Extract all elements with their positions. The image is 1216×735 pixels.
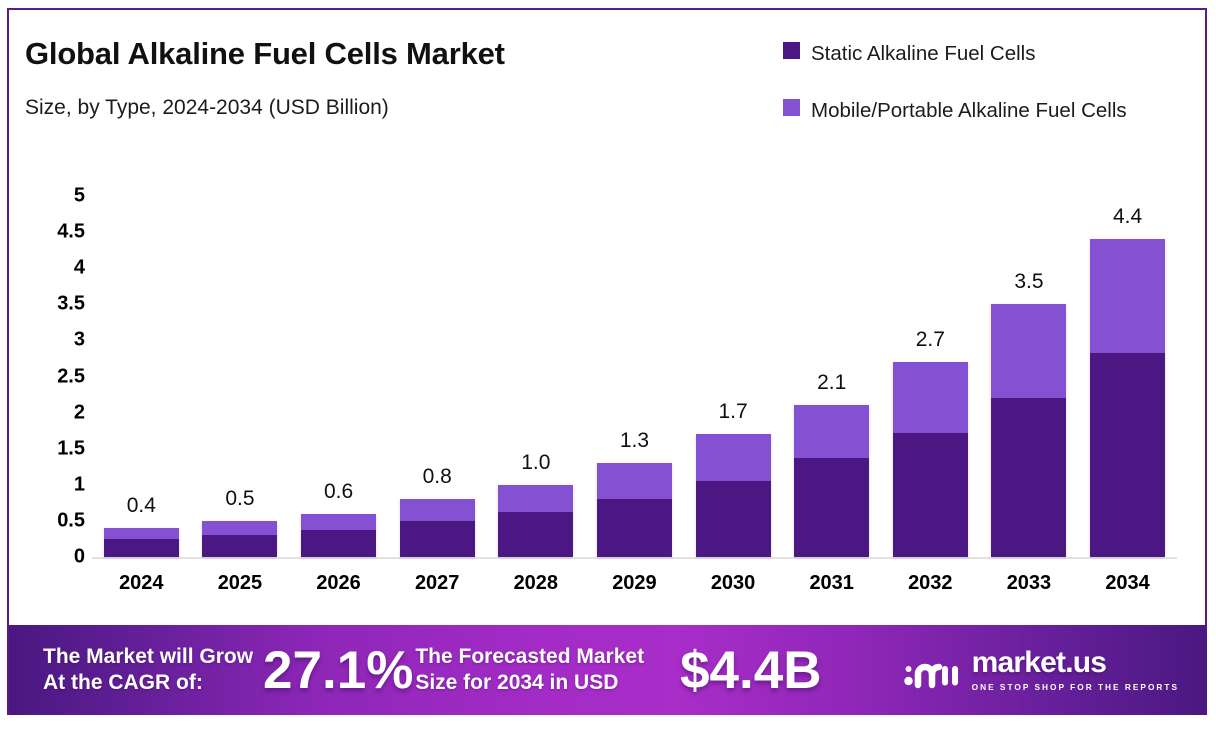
bar-segment-mobile-portable[interactable] [893,362,968,433]
bar-segment-static[interactable] [1090,353,1165,557]
bar-total-label: 0.6 [324,480,353,504]
bar-total-label: 2.1 [817,371,846,395]
bar-segment-static[interactable] [498,512,573,557]
bar-total-label: 3.5 [1014,270,1043,294]
bar-group: 0.8 [388,196,486,557]
bar-stack[interactable] [498,485,573,557]
x-axis-tick: 2030 [684,572,782,604]
summary-banner: The Market will Grow At the CAGR of: 27.… [9,625,1207,715]
square-swatch-icon [783,99,800,116]
bar-group: 4.4 [1079,196,1177,557]
y-axis-tick: 1.5 [57,437,85,460]
legend-item-mobile-portable[interactable]: Mobile/Portable Alkaline Fuel Cells [783,95,1183,126]
y-axis-tick: 2.5 [57,365,85,388]
bar-segment-static[interactable] [202,535,277,557]
y-axis-tick: 3.5 [57,293,85,316]
bar-stack[interactable] [400,499,475,557]
bar-segment-mobile-portable[interactable] [794,405,869,458]
brand-logo[interactable]: market.us ONE STOP SHOP FOR THE REPORTS [903,648,1179,692]
page-title: Global Alkaline Fuel Cells Market [25,36,505,72]
x-axis-tick: 2029 [585,572,683,604]
bar-segment-static[interactable] [400,521,475,557]
x-axis-tick: 2032 [881,572,979,604]
bar-total-label: 2.7 [916,328,945,352]
x-axis-tick: 2025 [191,572,289,604]
y-axis-tick: 0.5 [57,509,85,532]
x-axis-tick: 2024 [92,572,190,604]
bar-segment-mobile-portable[interactable] [1090,239,1165,353]
bar-segment-mobile-portable[interactable] [400,499,475,521]
bar-group: 0.4 [92,196,190,557]
y-axis-tick: 2 [74,401,85,424]
bar-stack[interactable] [597,463,672,557]
cagr-label-line2: At the CAGR of: [43,670,253,696]
x-axis-tick: 2026 [290,572,388,604]
bar-total-label: 1.7 [718,400,747,424]
bar-stack[interactable] [104,528,179,557]
y-axis-tick: 4 [74,257,85,280]
bar-group: 0.5 [191,196,289,557]
bar-segment-mobile-portable[interactable] [991,304,1066,398]
bar-segment-static[interactable] [104,539,179,557]
forecast-label-block: The Forecasted Market Size for 2034 in U… [415,644,644,696]
bar-stack[interactable] [301,514,376,557]
bar-stack[interactable] [794,405,869,557]
bar-stack[interactable] [696,434,771,557]
bar-segment-mobile-portable[interactable] [301,514,376,530]
cagr-label-line1: The Market will Grow [43,644,253,670]
y-axis-tick: 3 [74,329,85,352]
chart-legend: Static Alkaline Fuel Cells Mobile/Portab… [783,38,1183,152]
bar-segment-static[interactable] [696,481,771,557]
bar-stack[interactable] [202,521,277,557]
y-axis-tick: 5 [74,185,85,208]
bars-container: 0.40.50.60.81.01.31.72.12.73.54.4 [92,196,1177,557]
x-axis-tick: 2031 [783,572,881,604]
x-axis-tick: 2027 [388,572,486,604]
infographic-canvas: Global Alkaline Fuel Cells Market Size, … [0,0,1216,735]
bar-total-label: 0.4 [127,494,156,518]
bar-stack[interactable] [1090,239,1165,557]
square-swatch-icon [783,42,800,59]
bar-total-label: 4.4 [1113,205,1142,229]
forecast-label-line2: Size for 2034 in USD [415,670,644,696]
bar-group: 2.7 [881,196,979,557]
x-axis-baseline [92,557,1177,559]
y-axis-tick: 4.5 [57,221,85,244]
cagr-value: 27.1% [263,644,413,697]
bar-group: 0.6 [290,196,388,557]
forecast-value: $4.4B [680,644,821,697]
y-axis-tick: 1 [74,473,85,496]
market-us-logo-icon [903,651,961,689]
x-axis-tick: 2033 [980,572,1078,604]
page-subtitle: Size, by Type, 2024-2034 (USD Billion) [25,96,389,120]
y-axis-tick: 0 [74,546,85,569]
bar-segment-mobile-portable[interactable] [202,521,277,535]
legend-item-label: Mobile/Portable Alkaline Fuel Cells [811,95,1127,126]
bar-segment-mobile-portable[interactable] [696,434,771,481]
cagr-label-block: The Market will Grow At the CAGR of: [43,644,253,696]
bar-segment-static[interactable] [991,398,1066,557]
bar-segment-mobile-portable[interactable] [597,463,672,499]
legend-item-label: Static Alkaline Fuel Cells [811,38,1035,69]
legend-item-static[interactable]: Static Alkaline Fuel Cells [783,38,1183,69]
bar-group: 3.5 [980,196,1078,557]
forecast-label-line1: The Forecasted Market [415,644,644,670]
bar-total-label: 1.0 [521,451,550,475]
bar-group: 1.0 [487,196,585,557]
bar-segment-static[interactable] [893,433,968,557]
x-axis-tick: 2034 [1079,572,1177,604]
bar-segment-static[interactable] [301,530,376,557]
bar-segment-static[interactable] [597,499,672,557]
x-axis: 2024202520262027202820292030203120322033… [92,572,1177,604]
bar-segment-mobile-portable[interactable] [104,528,179,539]
bar-segment-static[interactable] [794,458,869,557]
bar-stack[interactable] [893,362,968,557]
logo-tagline: ONE STOP SHOP FOR THE REPORTS [972,682,1179,692]
bar-group: 1.7 [684,196,782,557]
bar-group: 2.1 [783,196,881,557]
bar-stack[interactable] [991,304,1066,557]
bar-segment-mobile-portable[interactable] [498,485,573,512]
x-axis-tick: 2028 [487,572,585,604]
bar-total-label: 0.8 [423,465,452,489]
y-axis: 00.511.522.533.544.55 [25,192,85,568]
bar-total-label: 1.3 [620,429,649,453]
logo-wordmark: market.us [972,648,1179,678]
bar-total-label: 0.5 [225,487,254,511]
bar-group: 1.3 [585,196,683,557]
